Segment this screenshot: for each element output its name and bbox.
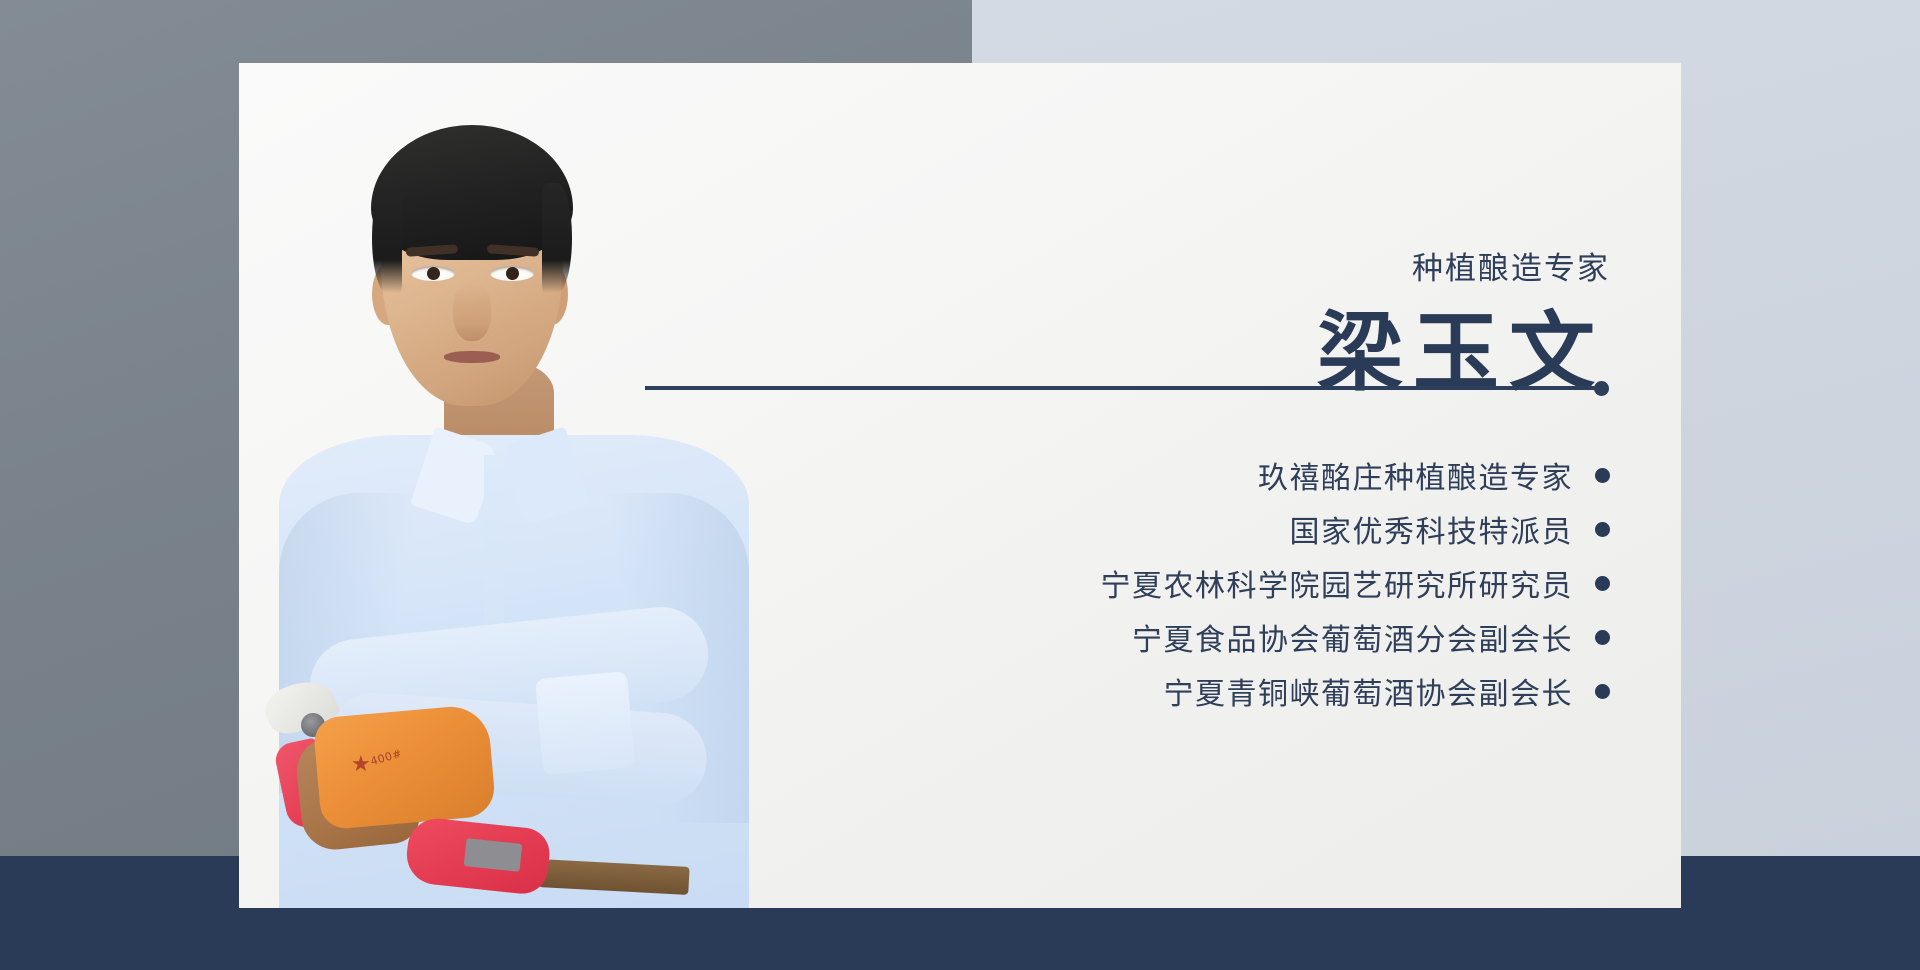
bullet-dot-icon [1595,522,1610,537]
credential-label: 玖禧酩庄种植酿造专家 [1258,453,1573,497]
background-block-navy-right [1681,856,1920,970]
bullet-dot-icon [1595,576,1610,591]
profile-name: 梁玉文 [1317,308,1605,398]
portrait-shirt-cuff [535,671,635,775]
profile-subtitle: 种植酿造专家 [1412,253,1610,284]
bullet-dot-icon [1595,468,1610,483]
credential-label: 宁夏农林科学院园艺研究所研究员 [1101,561,1574,605]
credentials-list: 玖禧酩庄种植酿造专家 国家优秀科技特派员 宁夏农林科学院园艺研究所研究员 宁夏食… [690,448,1610,718]
bullet-dot-icon [1595,684,1610,699]
portrait-hair-side-right [542,183,572,293]
portrait-bottom-fade [239,853,799,908]
list-item: 宁夏食品协会葡萄酒分会副会长 [690,610,1610,664]
bullet-dot-icon [1595,630,1610,645]
divider-line [645,386,1601,390]
poster-canvas: ★ 400# 种植酿造专家 梁玉文 玖禧酩庄种植酿造专家 国家优秀科技特派员 宁… [0,0,1920,970]
credential-label: 宁夏食品协会葡萄酒分会副会长 [1132,615,1573,659]
portrait-hair-side-left [372,183,402,293]
list-item: 宁夏农林科学院园艺研究所研究员 [690,556,1610,610]
list-item: 玖禧酩庄种植酿造专家 [690,448,1610,502]
list-item: 国家优秀科技特派员 [690,502,1610,556]
divider-end-dot-icon [1594,381,1609,396]
list-item: 宁夏青铜峡葡萄酒协会副会长 [690,664,1610,718]
profile-card: ★ 400# 种植酿造专家 梁玉文 玖禧酩庄种植酿造专家 国家优秀科技特派员 宁… [239,63,1681,908]
portrait-work-glove [312,704,496,831]
portrait-pupil-right [506,267,519,280]
portrait-pupil-left [427,267,440,280]
portrait-mouth [444,351,500,363]
credential-label: 宁夏青铜峡葡萄酒协会副会长 [1164,669,1574,713]
portrait-nose [453,283,491,341]
credential-label: 国家优秀科技特派员 [1290,507,1574,551]
